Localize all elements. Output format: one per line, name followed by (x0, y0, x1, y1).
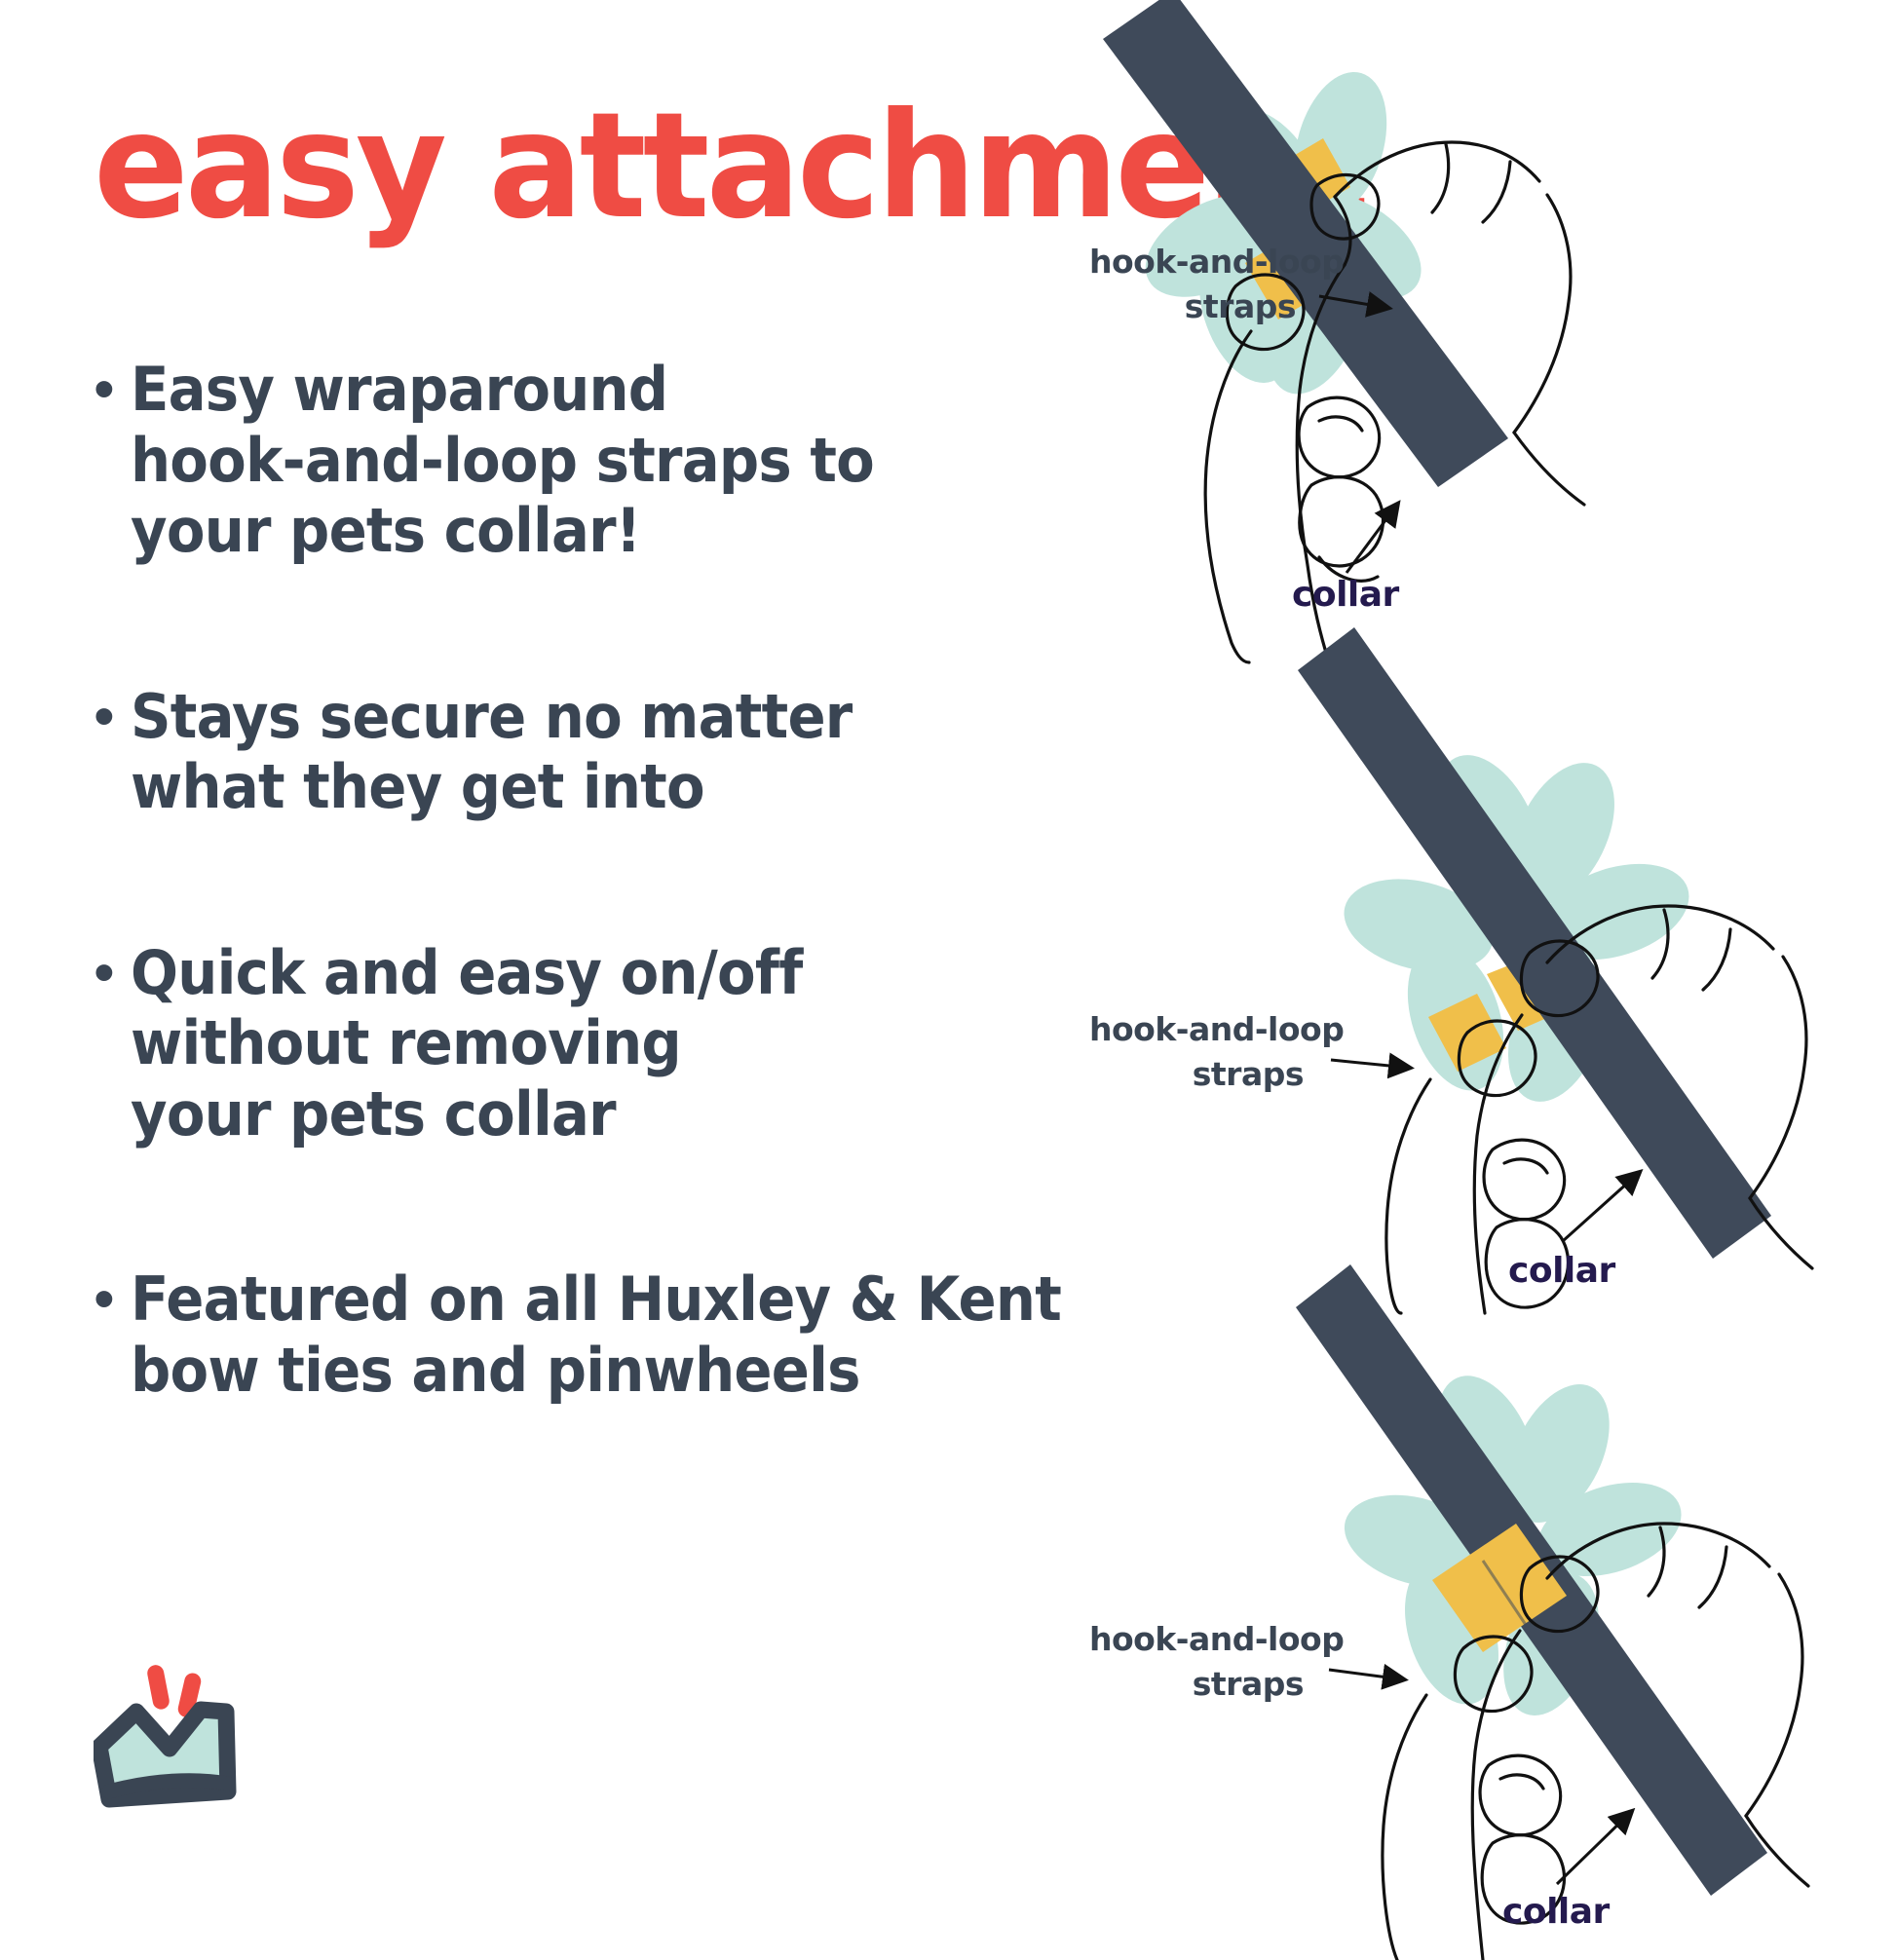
page-title: easy attachment (94, 94, 1085, 240)
feature-line: bow ties and pinwheels (131, 1336, 1061, 1407)
feature-text: Featured on all Huxley & Kent bow ties a… (131, 1264, 1061, 1406)
infographic-page: easy attachment • Easy wraparound hook-a… (0, 0, 1896, 1896)
bullet-marker: • (94, 1264, 127, 1335)
feature-line: Stays secure no matter (131, 682, 853, 753)
crown-icon (94, 1645, 274, 1845)
illustration-step-3: hook-and-loop straps collar (1089, 1317, 1888, 1960)
label-hook-and-loop-line1: hook-and-loop (1089, 1010, 1344, 1048)
label-hook-and-loop-line1: hook-and-loop (1089, 1620, 1344, 1658)
label-hook-and-loop-line2: straps (1185, 287, 1296, 325)
arrow-to-strap (1329, 1670, 1403, 1679)
illustration-step-2: hook-and-loop straps collar (1089, 670, 1888, 1313)
crown-logo (94, 1645, 274, 1845)
feature-line: Quick and easy on/off (131, 938, 803, 1009)
bullet-marker: • (94, 355, 127, 425)
feature-line: Easy wraparound (131, 355, 874, 426)
label-hook-and-loop-line2: straps (1193, 1055, 1304, 1093)
arrow-to-collar (1557, 1812, 1631, 1884)
content-column: easy attachment • Easy wraparound hook-a… (94, 94, 1126, 1521)
arrow-to-collar (1346, 505, 1397, 573)
illustration-step-1: hook-and-loop straps collar (1089, 19, 1888, 662)
label-collar: collar (1292, 575, 1400, 615)
feature-line: your pets collar (131, 1079, 803, 1150)
label-collar: collar (1502, 1892, 1611, 1932)
crown-spark-left (146, 1664, 171, 1711)
label-collar: collar (1508, 1251, 1616, 1291)
feature-text: Quick and easy on/off without removing y… (131, 938, 803, 1150)
feature-line: Featured on all Huxley & Kent (131, 1264, 1061, 1336)
feature-line: without removing (131, 1008, 803, 1079)
feature-line: what they get into (131, 752, 853, 823)
bullet-marker: • (94, 682, 127, 752)
feature-line: your pets collar! (131, 496, 874, 567)
label-hook-and-loop-line1: hook-and-loop (1089, 243, 1344, 281)
list-item: • Quick and easy on/off without removing… (94, 938, 1126, 1150)
list-item: • Easy wraparound hook-and-loop straps t… (94, 355, 1126, 567)
list-item: • Featured on all Huxley & Kent bow ties… (94, 1264, 1126, 1406)
label-hook-and-loop-line2: straps (1193, 1665, 1304, 1703)
arrow-to-strap (1331, 1060, 1409, 1068)
arrow-to-collar (1563, 1173, 1639, 1241)
feature-text: Easy wraparound hook-and-loop straps to … (131, 355, 874, 567)
bullet-marker: • (94, 938, 127, 1008)
feature-line: hook-and-loop straps to (131, 426, 874, 497)
feature-text: Stays secure no matter what they get int… (131, 682, 853, 823)
feature-list: • Easy wraparound hook-and-loop straps t… (94, 355, 1126, 1406)
list-item: • Stays secure no matter what they get i… (94, 682, 1126, 823)
